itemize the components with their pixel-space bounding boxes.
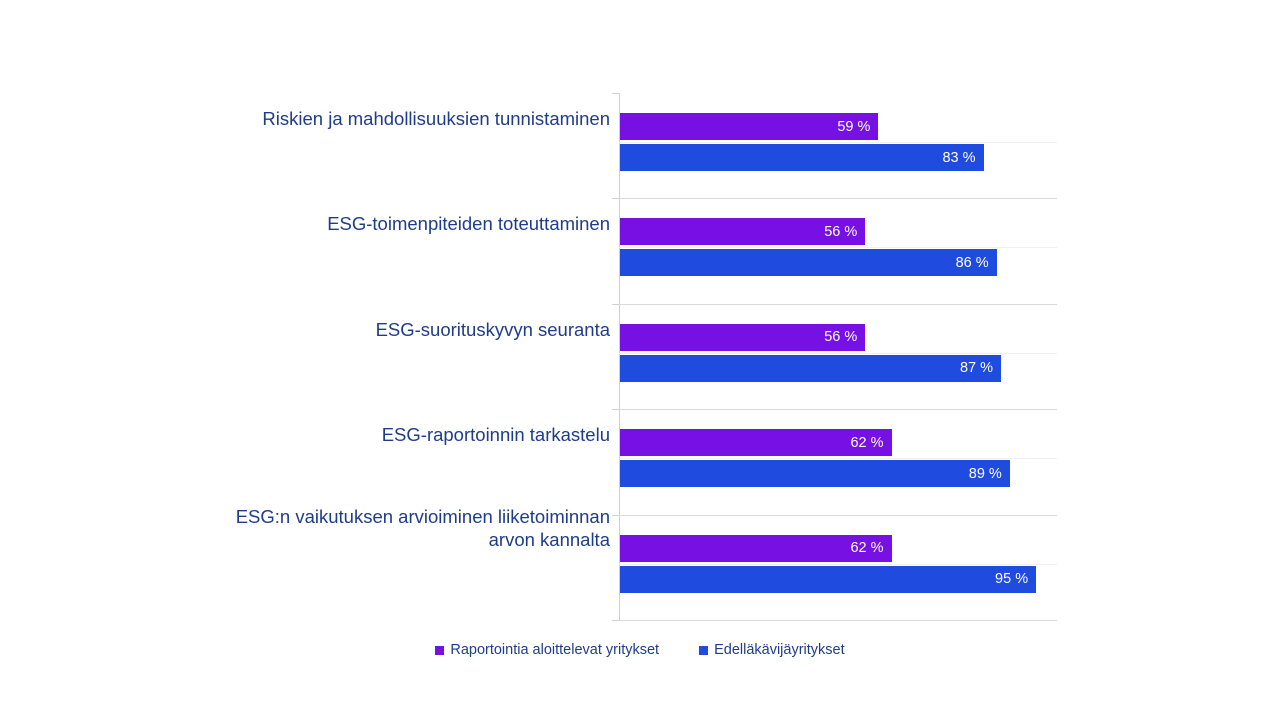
bar-value-label: 56 % xyxy=(824,225,857,240)
bar-value-label: 62 % xyxy=(850,541,883,556)
axis-tick xyxy=(612,93,619,94)
gridline-minor xyxy=(619,353,1057,354)
axis-tick xyxy=(612,515,619,516)
axis-tick xyxy=(612,198,619,199)
gridline-minor xyxy=(619,564,1057,565)
category-label: ESG:n vaikutuksen arvioiminen liiketoimi… xyxy=(140,505,610,552)
bar-value-label: 87 % xyxy=(960,361,993,376)
category-label: Riskien ja mahdollisuuksien tunnistamine… xyxy=(140,107,610,131)
bar: 62 % xyxy=(620,535,892,562)
bar: 56 % xyxy=(620,324,865,351)
bar-value-label: 83 % xyxy=(942,150,975,165)
bar: 95 % xyxy=(620,566,1036,593)
category-label: ESG-toimenpiteiden toteuttaminen xyxy=(140,212,610,236)
gridline xyxy=(619,304,1057,305)
bar: 86 % xyxy=(620,249,997,276)
gridline xyxy=(619,198,1057,199)
axis-tick xyxy=(612,409,619,410)
bar-value-label: 56 % xyxy=(824,330,857,345)
legend-label: Raportointia aloittelevat yritykset xyxy=(450,643,659,658)
gridline xyxy=(619,93,1057,94)
category-label: ESG-raportoinnin tarkastelu xyxy=(140,423,610,447)
bar-value-label: 59 % xyxy=(837,119,870,134)
gridline-minor xyxy=(619,142,1057,143)
bar: 56 % xyxy=(620,218,865,245)
legend-swatch-icon xyxy=(699,646,708,655)
axis-tick xyxy=(612,304,619,305)
gridline xyxy=(619,515,1057,516)
category-labels: Riskien ja mahdollisuuksien tunnistamine… xyxy=(140,93,610,620)
axis-tick xyxy=(612,620,619,621)
bar-value-label: 86 % xyxy=(956,256,989,271)
bar: 87 % xyxy=(620,355,1001,382)
legend-label: Edelläkävijäyritykset xyxy=(714,643,845,658)
bar-value-label: 89 % xyxy=(969,466,1002,481)
gridline xyxy=(619,620,1057,621)
bar-value-label: 95 % xyxy=(995,572,1028,587)
bar: 89 % xyxy=(620,460,1010,487)
category-label: ESG-suorituskyvyn seuranta xyxy=(140,318,610,342)
bar: 83 % xyxy=(620,144,984,171)
gridline xyxy=(619,409,1057,410)
gridline-minor xyxy=(619,458,1057,459)
chart-legend: Raportointia aloittelevat yrityksetEdell… xyxy=(0,643,1280,658)
plot-area: 59 %83 %56 %86 %56 %87 %62 %89 %62 %95 % xyxy=(619,93,1057,620)
legend-item[interactable]: Raportointia aloittelevat yritykset xyxy=(435,643,659,658)
legend-swatch-icon xyxy=(435,646,444,655)
bar: 59 % xyxy=(620,113,878,140)
bar-chart: Riskien ja mahdollisuuksien tunnistamine… xyxy=(0,0,1280,720)
gridline-minor xyxy=(619,247,1057,248)
bar: 62 % xyxy=(620,429,892,456)
bar-value-label: 62 % xyxy=(850,435,883,450)
legend-item[interactable]: Edelläkävijäyritykset xyxy=(699,643,845,658)
